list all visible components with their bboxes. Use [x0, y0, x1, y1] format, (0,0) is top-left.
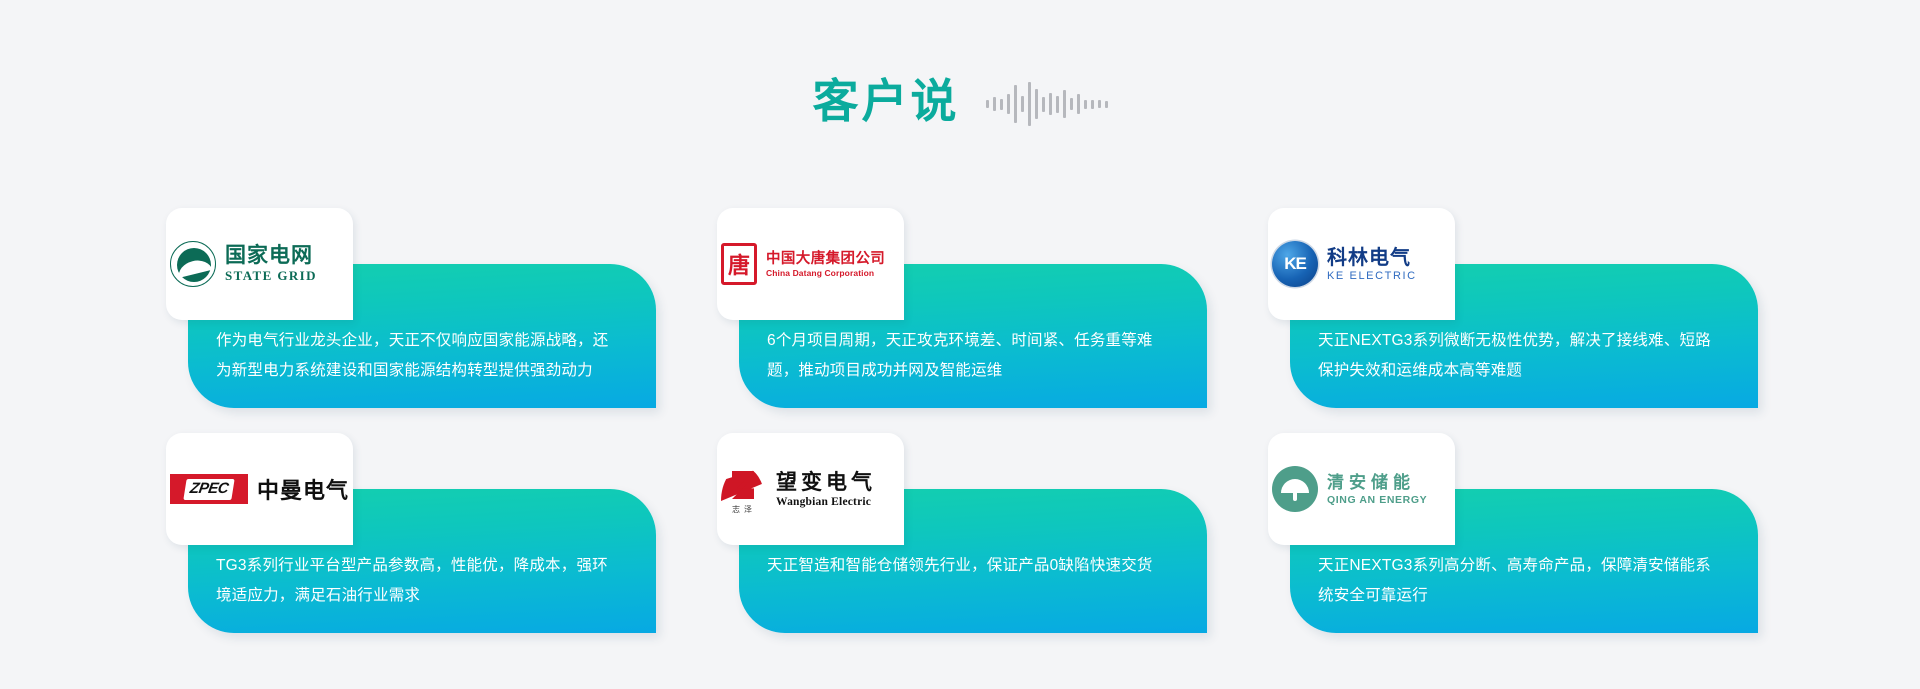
- waveform-bar: [1014, 85, 1017, 123]
- company-name-cn: 中国大唐集团公司: [766, 250, 885, 268]
- zpec-logo: ZPEC: [170, 474, 248, 504]
- company-name-cn: 国家电网: [225, 244, 317, 268]
- testimonial-card[interactable]: 国家电网 STATE GRID 作为电气行业龙头企业，天正不仅响应国家能源战略，…: [166, 208, 656, 408]
- company-name-en: Wangbian Electric: [776, 496, 876, 508]
- audio-waveform-icon: [986, 80, 1108, 128]
- logo-plate: 中国大唐集团公司 China Datang Corporation: [717, 208, 904, 320]
- logo-plate: ZPEC 中曼电气: [166, 433, 353, 545]
- waveform-bar: [1070, 98, 1073, 110]
- waveform-bar: [1000, 99, 1003, 110]
- waveform-bar: [1007, 94, 1010, 114]
- page-title: 客户说: [813, 78, 960, 124]
- testimonial-card[interactable]: 志泽 望变电气 Wangbian Electric 天正智造和智能仓储领先行业，…: [717, 433, 1207, 633]
- testimonial-quote: 天正NEXTG3系列高分断、高寿命产品，保障清安储能系统安全可靠运行: [1318, 551, 1722, 611]
- testimonial-card[interactable]: 中国大唐集团公司 China Datang Corporation 6个月项目周…: [717, 208, 1207, 408]
- company-name-cn: 清安储能: [1327, 472, 1427, 493]
- state-grid-logo: [170, 241, 216, 287]
- logo-plate: 清安储能 QING AN ENERGY: [1268, 433, 1455, 545]
- waveform-bar: [986, 100, 989, 108]
- testimonial-quote: TG3系列行业平台型产品参数高，性能优，降成本，强环境适应力，满足石油行业需求: [216, 551, 620, 611]
- company-name-cn: 科林电气: [1327, 246, 1417, 270]
- section-header: 客户说: [0, 0, 1920, 130]
- testimonial-card[interactable]: 清安储能 QING AN ENERGY 天正NEXTG3系列高分断、高寿命产品，…: [1268, 433, 1758, 633]
- logo-plate: KE 科林电气 KE ELECTRIC: [1268, 208, 1455, 320]
- waveform-bar: [1063, 90, 1066, 118]
- company-name-en: KE ELECTRIC: [1327, 270, 1417, 282]
- waveform-bar: [993, 97, 996, 111]
- waveform-bar: [1105, 101, 1108, 108]
- logo-plate: 国家电网 STATE GRID: [166, 208, 353, 320]
- company-name-en: ZPEC: [183, 479, 234, 500]
- waveform-bar: [1084, 100, 1087, 109]
- company-name-en: QING AN ENERGY: [1327, 494, 1427, 506]
- testimonial-quote: 天正智造和智能仓储领先行业，保证产品0缺陷快速交货: [767, 551, 1171, 581]
- testimonial-card-grid: 国家电网 STATE GRID 作为电气行业龙头企业，天正不仅响应国家能源战略，…: [166, 208, 1758, 633]
- waveform-bar: [1035, 89, 1038, 119]
- company-name-en: China Datang Corporation: [766, 268, 885, 278]
- wangbian-electric-logo: 志泽: [721, 465, 767, 513]
- waveform-bar: [1098, 100, 1101, 108]
- testimonial-quote: 6个月项目周期，天正攻克环境差、时间紧、任务重等难题，推动项目成功并网及智能运维: [767, 326, 1171, 386]
- company-name-en: STATE GRID: [225, 268, 317, 284]
- waveform-bar: [1028, 82, 1031, 126]
- china-datang-logo: [721, 243, 757, 285]
- waveform-bar: [1049, 93, 1052, 115]
- testimonial-quote: 作为电气行业龙头企业，天正不仅响应国家能源战略，还为新型电力系统建设和国家能源结…: [216, 326, 620, 386]
- company-name-cn: 望变电气: [776, 470, 876, 495]
- waveform-bar: [1091, 100, 1094, 109]
- ke-electric-logo: KE: [1272, 241, 1318, 287]
- company-name-cn: 中曼电气: [257, 473, 349, 505]
- waveform-bar: [1021, 96, 1024, 112]
- waveform-bar: [1056, 96, 1059, 113]
- waveform-bar: [1077, 94, 1080, 114]
- qingan-energy-logo: [1272, 466, 1318, 512]
- testimonial-quote: 天正NEXTG3系列微断无极性优势，解决了接线难、短路保护失效和运维成本高等难题: [1318, 326, 1722, 386]
- waveform-bar: [1042, 97, 1045, 112]
- testimonial-card[interactable]: ZPEC 中曼电气 TG3系列行业平台型产品参数高，性能优，降成本，强环境适应力…: [166, 433, 656, 633]
- logo-plate: 志泽 望变电气 Wangbian Electric: [717, 433, 904, 545]
- testimonial-card[interactable]: KE 科林电气 KE ELECTRIC 天正NEXTG3系列微断无极性优势，解决…: [1268, 208, 1758, 408]
